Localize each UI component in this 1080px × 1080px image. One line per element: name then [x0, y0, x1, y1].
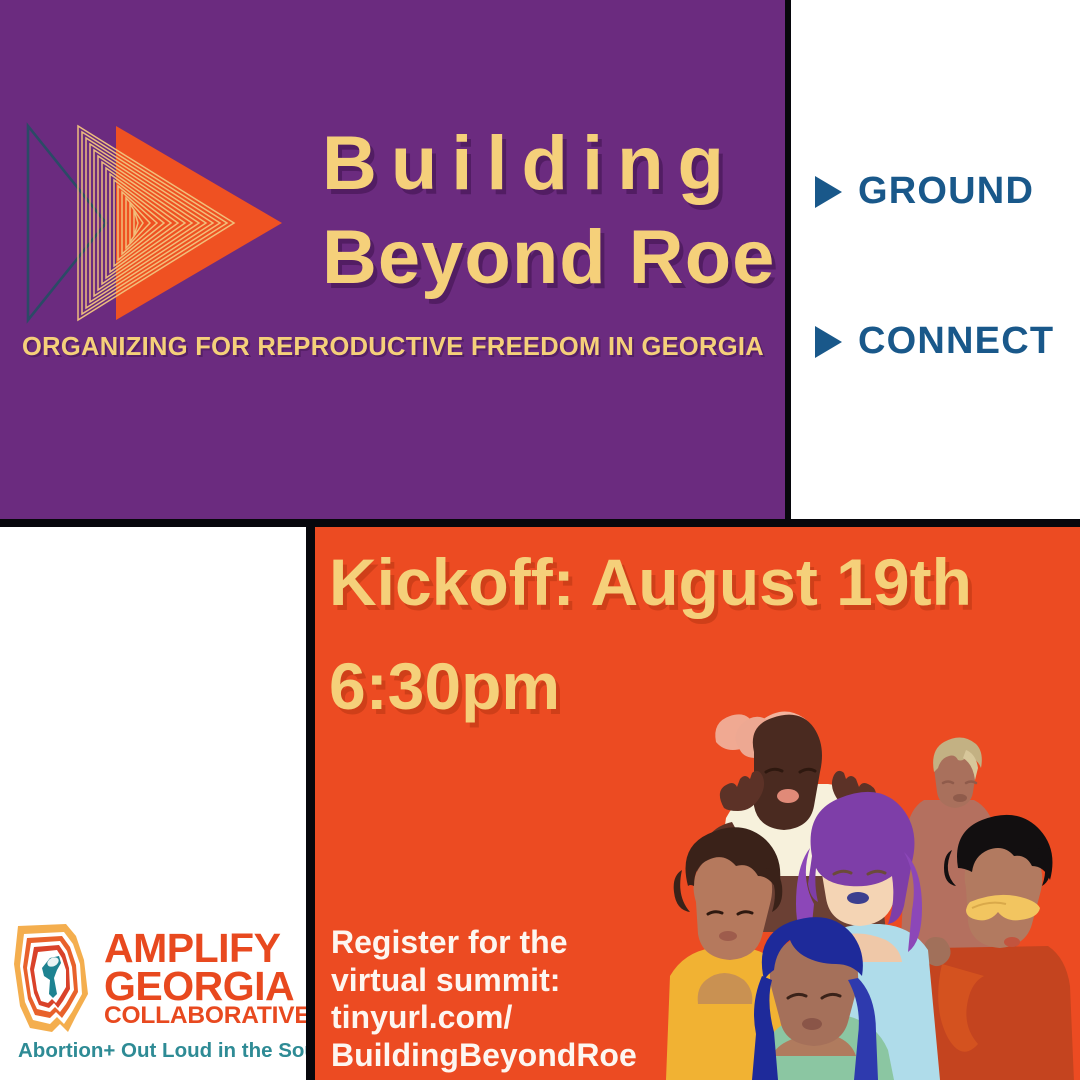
amplify-georgia-logo: AMPLIFY GEORGIA COLLABORATIVE Abortion+ …	[4, 919, 304, 1074]
sponsor-panel: AMPLIFY GEORGIA COLLABORATIVE Abortion+ …	[0, 527, 306, 1080]
poster-canvas: Building Beyond Roe ORGANIZING FOR REPRO…	[0, 0, 1080, 1080]
nav-panel: GROUND CONNECT	[791, 0, 1080, 519]
register-url[interactable]: BuildingBeyondRoe	[331, 1037, 751, 1074]
nested-triangles-logo-icon	[14, 118, 304, 328]
register-line-1: Register for the	[331, 924, 751, 961]
title-line-1: Building	[322, 126, 780, 202]
event-panel: Kickoff: August 19th 6:30pm	[315, 527, 1080, 1080]
play-triangle-icon	[815, 326, 842, 358]
nav-item-ground[interactable]: GROUND	[815, 170, 1034, 213]
georgia-megaphone-icon	[4, 920, 100, 1038]
register-line-3: tinyurl.com/	[331, 999, 751, 1036]
kickoff-heading: Kickoff: August 19th 6:30pm	[329, 549, 1029, 719]
sponsor-word-georgia: GEORGIA	[104, 968, 306, 1006]
kickoff-line-2: 6:30pm	[329, 653, 1029, 719]
nav-item-connect[interactable]: CONNECT	[815, 320, 1054, 363]
nav-item-label: GROUND	[858, 170, 1034, 213]
tagline: ORGANIZING FOR REPRODUCTIVE FREEDOM IN G…	[22, 333, 782, 362]
header-panel: Building Beyond Roe ORGANIZING FOR REPRO…	[0, 0, 785, 519]
register-line-2: virtual summit:	[331, 962, 751, 999]
title-line-2: Beyond Roe	[322, 220, 780, 296]
sponsor-tagline: Abortion+ Out Loud in the South	[18, 1039, 306, 1063]
sponsor-word-collaborative: COLLABORATIVE	[104, 1005, 306, 1028]
nav-item-label: CONNECT	[858, 320, 1054, 363]
play-triangle-icon	[815, 176, 842, 208]
kickoff-line-1: Kickoff: August 19th	[329, 549, 1029, 615]
register-info: Register for the virtual summit: tinyurl…	[331, 924, 751, 1074]
page-title: Building Beyond Roe	[322, 126, 780, 296]
